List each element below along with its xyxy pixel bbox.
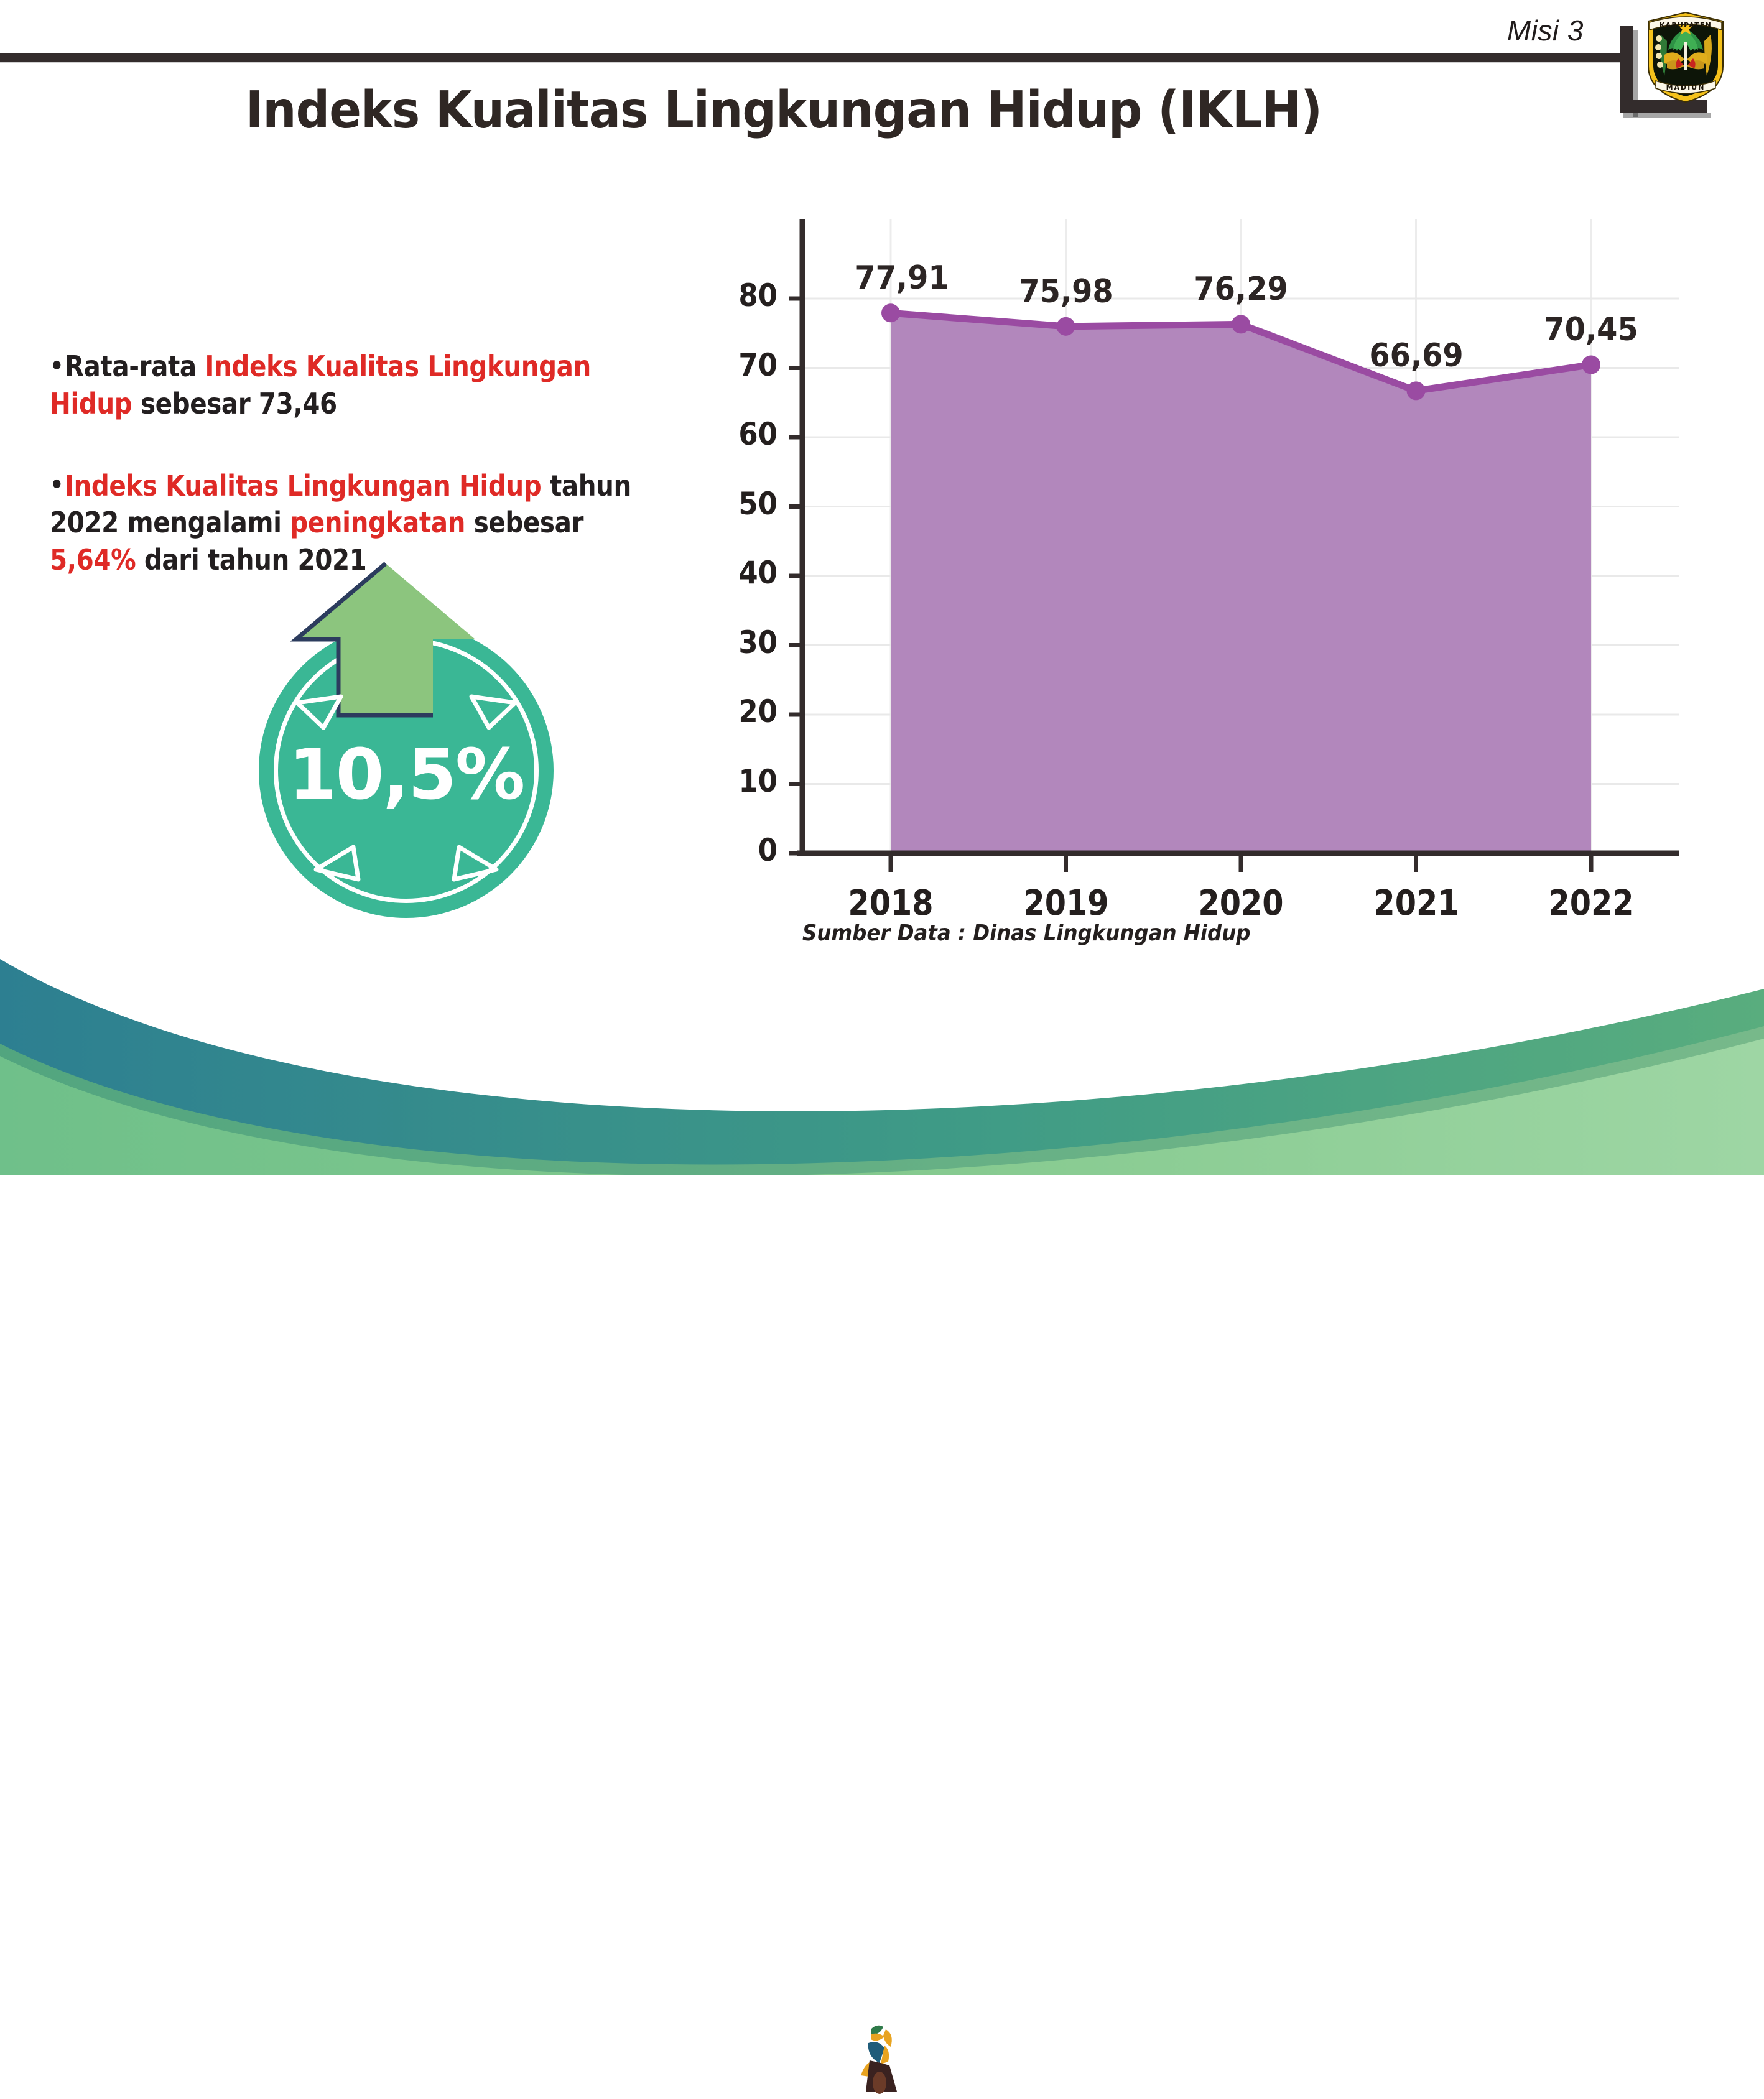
y-tick-label: 80: [716, 277, 778, 313]
x-tick-label: 2021: [1356, 883, 1477, 924]
bullet-seg-highlight: peningkatan: [290, 506, 465, 539]
bullet-list: •Rata-rata Indeks Kualitas Lingkungan Hi…: [50, 348, 722, 579]
footer-text: Media Infografis Data Statistik Sektoral…: [911, 2031, 1679, 2064]
emblem-bottom-text: MADIUN: [1666, 83, 1706, 91]
y-tick-label: 10: [716, 763, 778, 799]
bullet-seg-highlight: Indeks Kualitas Lingkungan Hidup: [65, 469, 541, 503]
bullet-seg: Rata-rata: [65, 350, 205, 383]
y-tick-label: 20: [716, 693, 778, 730]
bullet-seg: sebesar 73,46: [132, 387, 337, 420]
y-tick-label: 50: [716, 486, 778, 522]
chart-marker: [1407, 381, 1426, 400]
y-tick-label: 30: [716, 624, 778, 660]
badge-percent-label: 10,5%: [259, 740, 554, 810]
value-label: 75,98: [1000, 273, 1132, 310]
statistics-figure-icon: [852, 2018, 914, 2099]
x-tick-label: 2018: [830, 883, 951, 924]
chart-canvas: [753, 205, 1698, 902]
increase-badge: 10,5%: [241, 560, 577, 908]
x-tick-label: 2019: [1006, 883, 1126, 924]
chart-source-note: Sumber Data : Dinas Lingkungan Hidup: [802, 920, 1250, 946]
chart-marker: [1582, 355, 1600, 374]
chart-marker: [1232, 315, 1250, 333]
value-label: 70,45: [1525, 311, 1657, 348]
value-label: 66,69: [1350, 337, 1482, 374]
bullet-dot-icon: •: [50, 354, 63, 379]
infographic-page: Misi 3: [0, 0, 1764, 1175]
y-tick-label: 60: [716, 416, 778, 452]
emblem-top-text: KABUPATEN: [1660, 21, 1712, 29]
footer-waves: [0, 952, 1764, 1175]
y-tick-label: 70: [716, 347, 778, 383]
y-tick-label: 40: [716, 555, 778, 591]
chart-marker: [881, 303, 900, 322]
footer: Media Infografis Data Statistik Sektoral…: [0, 952, 1764, 1175]
bullet-seg-highlight: 5,64%: [50, 543, 136, 577]
bullet-item-average: •Rata-rata Indeks Kualitas Lingkungan Hi…: [50, 348, 641, 423]
x-tick-label: 2022: [1531, 883, 1651, 924]
page-title: Indeks Kualitas Lingkungan Hidup (IKLH): [55, 81, 1513, 140]
x-tick-label: 2020: [1181, 883, 1301, 924]
value-label: 76,29: [1175, 271, 1307, 308]
bullet-seg: sebesar: [465, 506, 583, 539]
iklh-area-chart: 01020304050607080 20182019202020212022 7…: [753, 205, 1698, 902]
mission-label: Misi 3: [1507, 14, 1584, 47]
bullet-dot-icon: •: [50, 473, 63, 498]
y-tick-label: 0: [716, 832, 778, 868]
kabupaten-madiun-emblem-icon: KABUPATEN MADIUN: [1640, 6, 1732, 106]
chart-marker: [1057, 317, 1075, 336]
value-label: 77,91: [836, 259, 968, 297]
header-rule: [0, 53, 1630, 62]
chart-area-fill: [891, 313, 1591, 853]
